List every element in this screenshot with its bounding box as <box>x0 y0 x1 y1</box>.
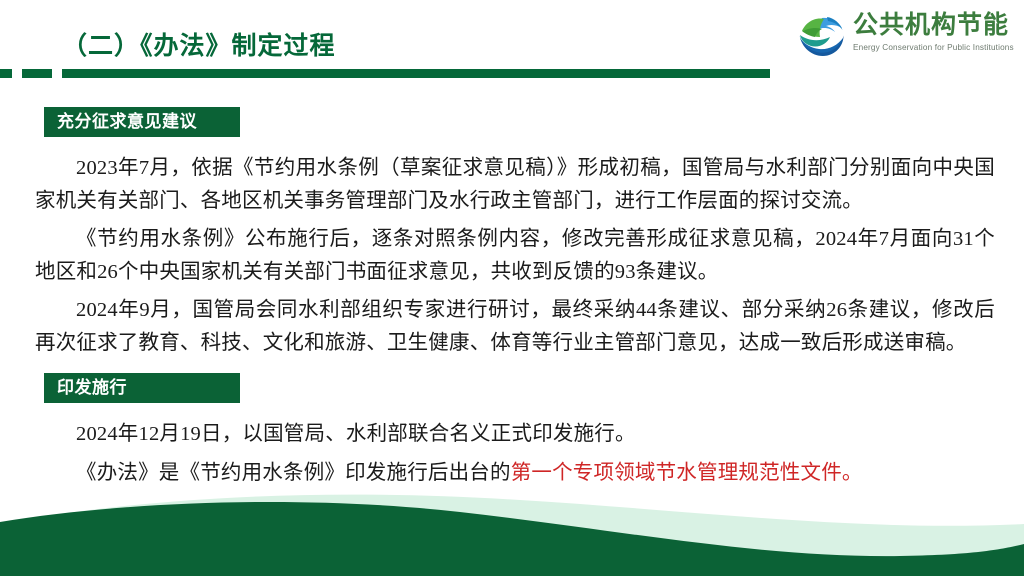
bottom-wave-decoration <box>0 480 1024 576</box>
title-underline-bar <box>62 69 770 78</box>
page-title: （二）《办法》制定过程 <box>62 26 336 62</box>
paragraph: 2023年7月，依据《节约用水条例（草案征求意见稿）》形成初稿，国管局与水利部门… <box>35 152 995 218</box>
title-dash-medium <box>22 69 52 78</box>
title-dash-small <box>0 69 12 78</box>
section-badge-1: 充分征求意见建议 <box>44 107 240 137</box>
section-badge-2: 印发施行 <box>44 373 240 403</box>
slide-canvas: （二）《办法》制定过程 公共机构节能 Energy Conservat <box>0 0 1024 576</box>
brand-name-en: Energy Conservation for Public Instituti… <box>853 42 1015 53</box>
brand-name-cn: 公共机构节能 <box>853 10 1015 40</box>
brand-logo: 公共机构节能 Energy Conservation for Public In… <box>797 10 1015 62</box>
leaf-wave-globe-icon <box>797 11 845 59</box>
paragraph: 2024年12月19日，以国管局、水利部联合名义正式印发施行。 <box>35 418 995 451</box>
brand-logo-text: 公共机构节能 Energy Conservation for Public In… <box>853 10 1015 53</box>
paragraph: 《节约用水条例》公布施行后，逐条对照条例内容，修改完善形成征求意见稿，2024年… <box>35 223 995 289</box>
paragraph: 2024年9月，国管局会同水利部组织专家进行研讨，最终采纳44条建议、部分采纳2… <box>35 294 995 360</box>
section-body-1: 2023年7月，依据《节约用水条例（草案征求意见稿）》形成初稿，国管局与水利部门… <box>35 152 995 360</box>
